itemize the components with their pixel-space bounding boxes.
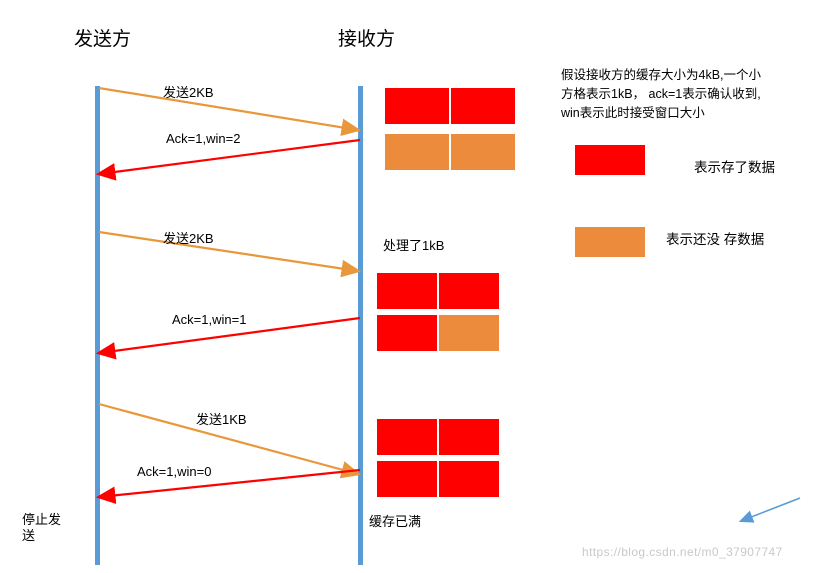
buffer-cell bbox=[376, 314, 438, 352]
label-ack-1: Ack=1,win=2 bbox=[166, 131, 240, 147]
buffer-cell bbox=[384, 133, 450, 171]
buffer-cell bbox=[376, 418, 438, 456]
label-buffer-full: 缓存已满 bbox=[369, 514, 421, 530]
label-send-1: 发送2KB bbox=[163, 85, 214, 101]
watermark: https://blog.csdn.net/m0_37907747 bbox=[582, 545, 783, 559]
label-processed: 处理了1kB bbox=[383, 238, 444, 254]
buffer-cell bbox=[438, 460, 500, 498]
legend-label-red: 表示存了数据 bbox=[694, 160, 775, 177]
assumption-note: 假设接收方的缓存大小为4kB,一个小 方格表示1kB， ack=1表示确认收到,… bbox=[561, 66, 761, 122]
buffer-cell bbox=[438, 272, 500, 310]
diagram-canvas: 发送方 接收方 发送2KB Ack=1,win=2 发送2KB Ack=1,wi… bbox=[0, 0, 830, 573]
legend-label-orange: 表示还没 存数据 bbox=[666, 232, 764, 249]
label-ack-3: Ack=1,win=0 bbox=[137, 464, 211, 480]
buffer-cell bbox=[450, 133, 516, 171]
legend-swatch-orange bbox=[575, 227, 645, 257]
buffer-cell bbox=[438, 418, 500, 456]
arrow-send-1 bbox=[99, 88, 358, 130]
buffer-cell bbox=[450, 87, 516, 125]
buffer-cell bbox=[384, 87, 450, 125]
legend-swatch-red bbox=[575, 145, 645, 175]
buffer-cell bbox=[376, 272, 438, 310]
label-send-3: 发送1KB bbox=[196, 412, 247, 428]
arrow-pointer bbox=[741, 498, 800, 521]
buffer-cell bbox=[376, 460, 438, 498]
label-ack-2: Ack=1,win=1 bbox=[172, 312, 246, 328]
label-send-2: 发送2KB bbox=[163, 231, 214, 247]
buffer-cell bbox=[438, 314, 500, 352]
arrow-send-2 bbox=[99, 232, 358, 271]
label-stop-send: 停止发 送 bbox=[22, 512, 61, 545]
